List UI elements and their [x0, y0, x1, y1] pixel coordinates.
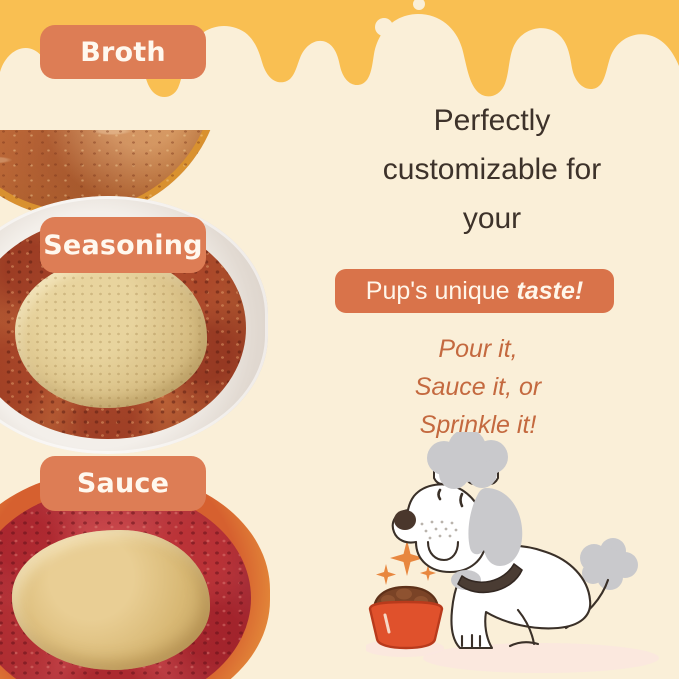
- headline-line-1: Perfectly: [342, 96, 642, 145]
- seasoning-label-text: Seasoning: [43, 230, 202, 261]
- subcopy: Pour it, Sauce it, or Sprinkle it!: [350, 330, 606, 444]
- subcopy-line-2: Sauce it, or: [350, 368, 606, 406]
- bowl-body: [370, 602, 442, 648]
- headline-line-3: your: [342, 194, 642, 243]
- seasoning-label-pill: Seasoning: [40, 217, 206, 273]
- dog-and-bowl-illustration: [366, 432, 679, 679]
- subcopy-line-1: Pour it,: [350, 330, 606, 368]
- dog-tail-pompom: [580, 538, 638, 590]
- advertisement-canvas: Broth Seasoning Sauce Perfectly customiz…: [0, 0, 679, 679]
- dog-eyebrow: [439, 490, 441, 499]
- taste-pill-prefix: Pup's unique: [366, 277, 510, 306]
- taste-highlight-pill: Pup's unique taste!: [335, 269, 614, 313]
- broth-label-text: Broth: [80, 37, 166, 68]
- drip-droplet-icon: [375, 18, 393, 36]
- sauce-label-text: Sauce: [77, 468, 169, 499]
- headline: Perfectly customizable for your: [342, 96, 642, 243]
- dog-nose: [394, 510, 416, 530]
- dog-eye: [461, 494, 463, 506]
- sauce-label-pill: Sauce: [40, 456, 206, 511]
- sauce-dollop: [12, 530, 209, 670]
- taste-pill-emphasis: taste!: [517, 277, 584, 306]
- broth-label-pill: Broth: [40, 25, 206, 79]
- headline-line-2: customizable for: [342, 145, 642, 194]
